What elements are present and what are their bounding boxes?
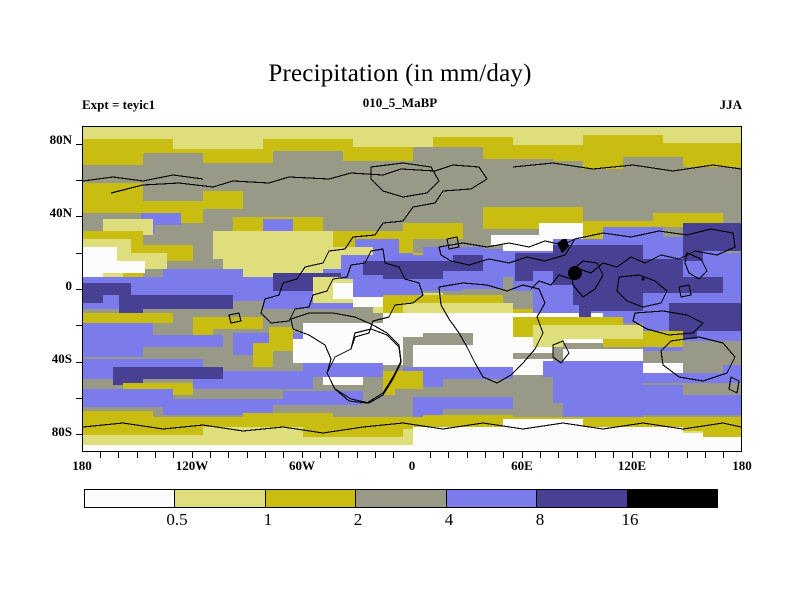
colorbar-band-1-2 bbox=[266, 490, 356, 507]
colorbar-tick-0.5: 0.5 bbox=[147, 510, 207, 530]
y-tick-label-40s: 40S bbox=[2, 351, 72, 367]
precipitation-contour-field bbox=[83, 127, 741, 451]
x-tick-label-0: 0 bbox=[372, 458, 452, 474]
colorbar-tick-2: 2 bbox=[328, 510, 388, 530]
colorbar-band-<0.5 bbox=[85, 490, 175, 507]
precipitation-map-figure: Precipitation (in mm/day) 010_5_MaBP Exp… bbox=[0, 0, 800, 600]
colorbar bbox=[84, 489, 718, 508]
page-title: Precipitation (in mm/day) bbox=[0, 60, 800, 88]
colorbar-tick-8: 8 bbox=[510, 510, 570, 530]
colorbar-tick-16: 16 bbox=[600, 510, 660, 530]
colorbar-band-0.5-1 bbox=[175, 490, 265, 507]
experiment-label: Expt = teyic1 bbox=[82, 97, 155, 113]
colorbar-tick-1: 1 bbox=[238, 510, 298, 530]
x-tick-label-120w: 120W bbox=[152, 458, 232, 474]
y-tick-label-0: 0 bbox=[2, 278, 72, 294]
x-tick-label-180e: 180 bbox=[702, 458, 782, 474]
y-tick-label-40n: 40N bbox=[2, 205, 72, 221]
x-tick-label-180w: 180 bbox=[42, 458, 122, 474]
x-tick-label-120e: 120E bbox=[592, 458, 672, 474]
colorbar-band-2-4 bbox=[356, 490, 446, 507]
colorbar-tick-4: 4 bbox=[419, 510, 479, 530]
colorbar-band->16 bbox=[628, 490, 717, 507]
x-tick-label-60w: 60W bbox=[262, 458, 342, 474]
colorbar-band-4-8 bbox=[447, 490, 537, 507]
y-tick-label-80n: 80N bbox=[2, 132, 72, 148]
colorbar-band-8-16 bbox=[537, 490, 627, 507]
y-tick-label-80s: 80S bbox=[2, 424, 72, 440]
x-tick-label-60e: 60E bbox=[482, 458, 562, 474]
season-label: JJA bbox=[720, 97, 742, 113]
map-plot-area bbox=[82, 126, 742, 452]
